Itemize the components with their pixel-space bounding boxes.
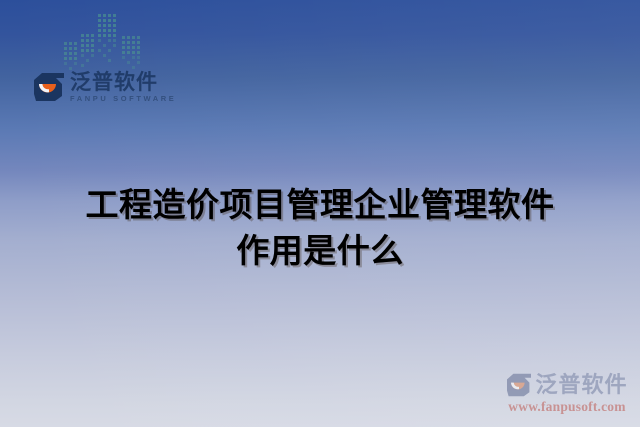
brand-name-cn: 泛普软件 [70, 72, 176, 93]
page-title-line-2: 作用是什么 [0, 228, 640, 274]
watermark-brand-name: 泛普软件 [535, 374, 627, 396]
brand-name-en: FANPU SOFTWARE [70, 95, 176, 103]
page-title: 工程造价项目管理企业管理软件 作用是什么 [0, 182, 640, 273]
brand-text: 泛普软件 FANPU SOFTWARE [70, 72, 176, 103]
poster-canvas: 泛普软件 FANPU SOFTWARE 工程造价项目管理企业管理软件 作用是什么… [0, 0, 640, 427]
page-title-line-1: 工程造价项目管理企业管理软件 [0, 182, 640, 228]
fanpu-hexagon-swoosh-logo-icon [506, 373, 532, 397]
watermark: 泛普软件 www.fanpusoft.com [500, 373, 634, 415]
brand-lockup: 泛普软件 FANPU SOFTWARE [33, 70, 176, 104]
fanpu-hexagon-swoosh-logo-icon [33, 72, 65, 102]
watermark-brand-row: 泛普软件 [500, 373, 634, 397]
watermark-url: www.fanpusoft.com [500, 399, 634, 415]
